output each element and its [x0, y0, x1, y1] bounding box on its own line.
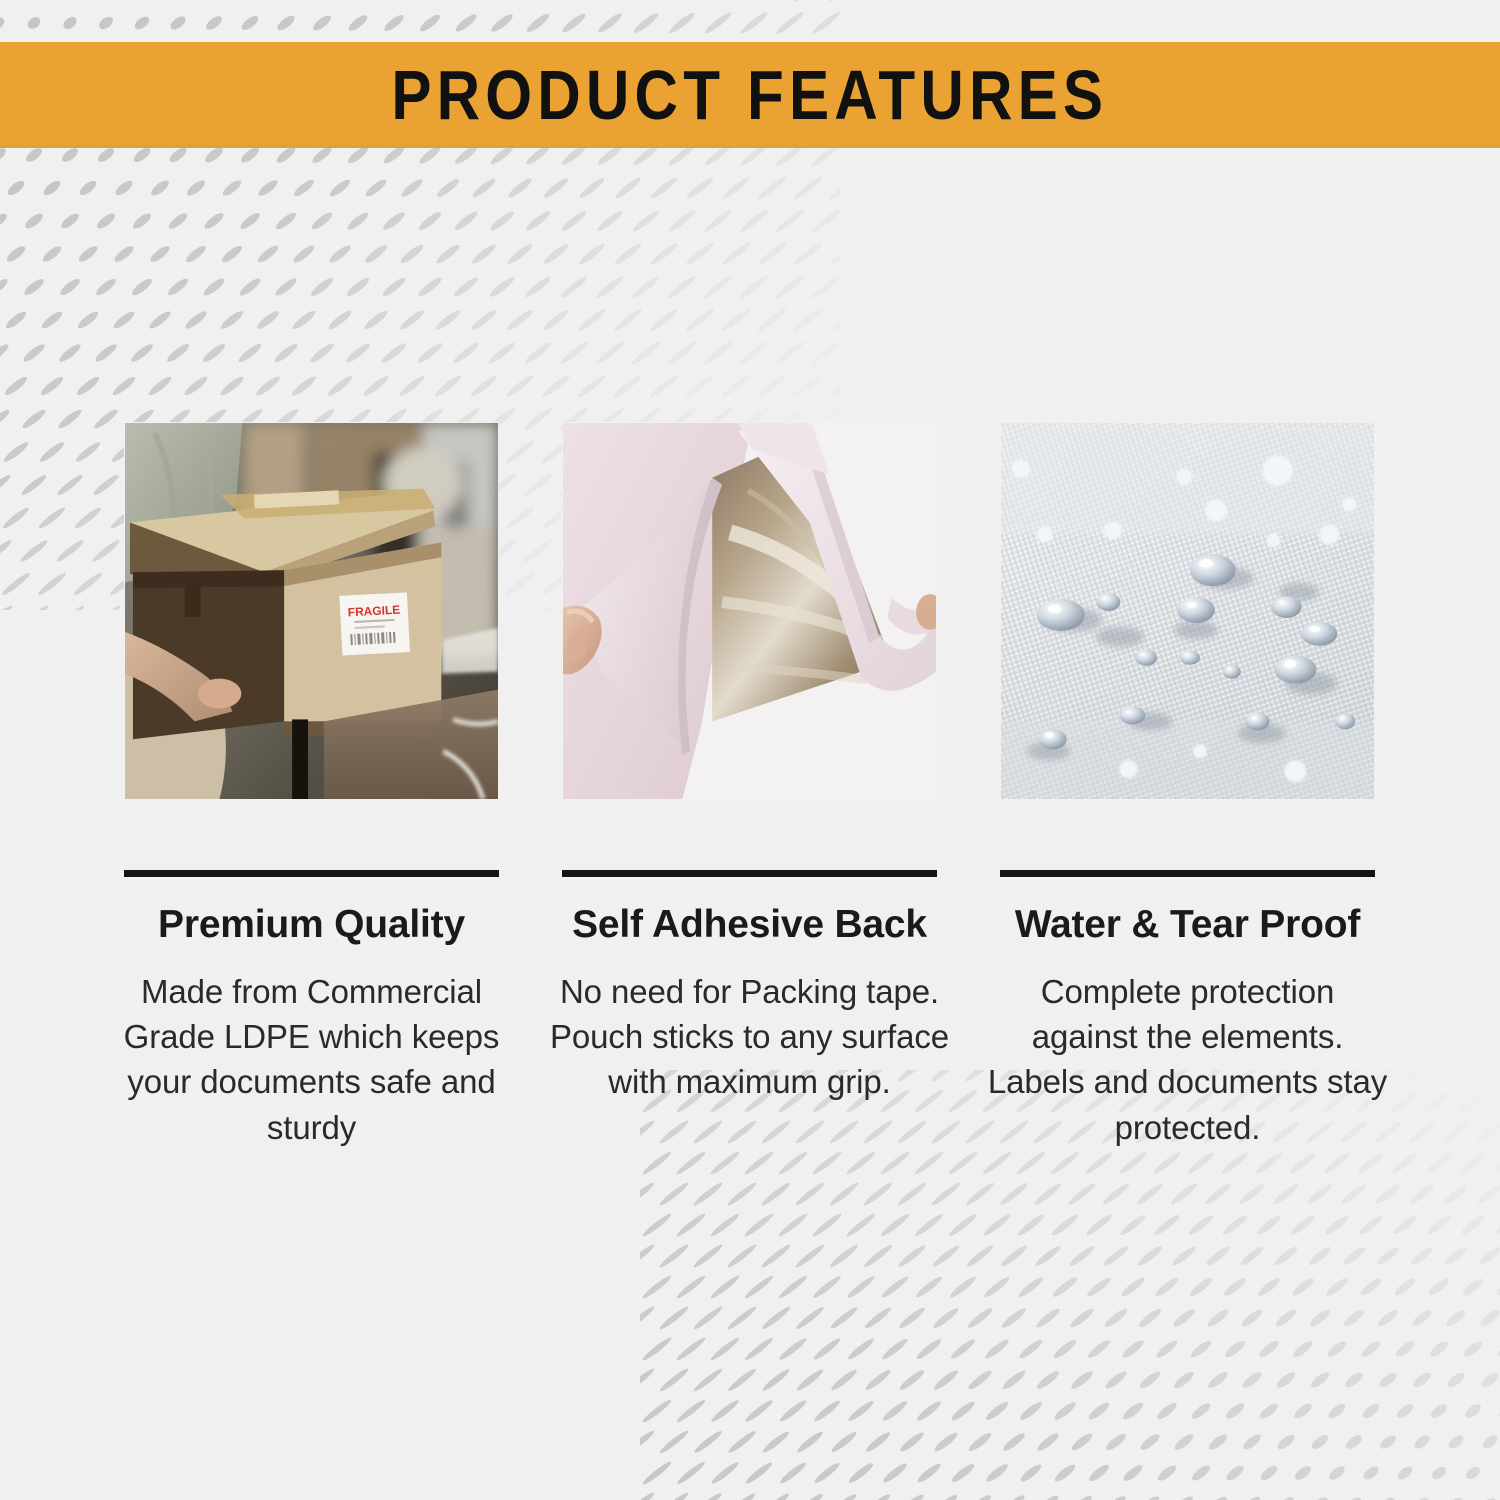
feature-image-adhesive-peel — [562, 422, 937, 800]
feature-title: Self Adhesive Back — [572, 904, 927, 947]
feature-card-water-tear-proof: Water & Tear Proof Complete protection a… — [1000, 422, 1375, 1150]
feature-divider-rule — [124, 870, 499, 877]
page-title: PRODUCT FEATURES — [392, 60, 1109, 130]
feature-divider-rule — [1000, 870, 1375, 877]
feature-title: Water & Tear Proof — [1015, 904, 1360, 947]
banner-bottom-edge — [0, 145, 1500, 148]
feature-description: Made from Commercial Grade LDPE which ke… — [112, 969, 512, 1150]
fragile-label-text: FRAGILE — [347, 603, 400, 620]
feature-description: Complete protection against the elements… — [988, 969, 1388, 1150]
feature-card-premium-quality: FRAGILE — [124, 422, 499, 1150]
feature-divider-rule — [562, 870, 937, 877]
feature-image-packing-boxes: FRAGILE — [124, 422, 499, 800]
feature-description: No need for Packing tape. Pouch sticks t… — [550, 969, 950, 1105]
header-banner: PRODUCT FEATURES — [0, 42, 1500, 148]
feature-image-water-droplets — [1000, 422, 1375, 800]
features-row: FRAGILE — [124, 422, 1376, 1150]
feature-card-self-adhesive-back: Self Adhesive Back No need for Packing t… — [562, 422, 937, 1150]
product-features-page: PRODUCT FEATURES — [0, 0, 1500, 1500]
feature-title: Premium Quality — [158, 904, 465, 947]
